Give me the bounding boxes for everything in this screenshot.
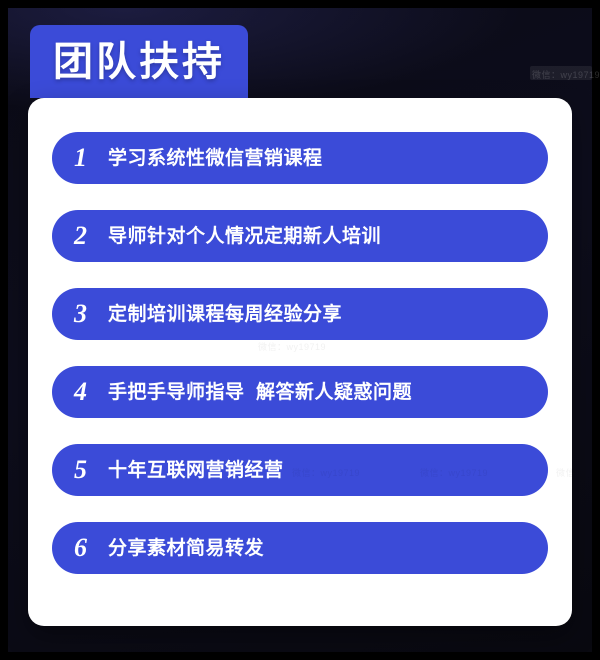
list-item[interactable]: 3 定制培训课程每周经验分享 [52,288,548,340]
list-item-label: 定制培训课程每周经验分享 [108,305,342,324]
list-item[interactable]: 5 十年互联网营销经营 [52,444,548,496]
list-item-number: 2 [74,223,100,249]
list-item-number: 5 [74,457,100,483]
content-card: 1 学习系统性微信营销课程 2 导师针对个人情况定期新人培训 3 定制培训课程每… [28,98,572,626]
list-item-number: 4 [74,379,100,405]
list-item[interactable]: 2 导师针对个人情况定期新人培训 [52,210,548,262]
list-item-number: 6 [74,535,100,561]
watermark-plate [530,66,592,80]
title-tab: 团队扶持 [30,25,248,98]
list-item[interactable]: 1 学习系统性微信营销课程 [52,132,548,184]
list-item-label: 学习系统性微信营销课程 [108,149,323,168]
list-item-label: 导师针对个人情况定期新人培训 [108,227,381,246]
list-item-label: 十年互联网营销经营 [108,461,284,480]
list-item-label: 手把手导师指导 解答新人疑惑问题 [108,383,412,402]
benefit-list: 1 学习系统性微信营销课程 2 导师针对个人情况定期新人培训 3 定制培训课程每… [52,132,548,574]
list-item-label: 分享素材简易转发 [108,539,264,558]
poster-root: 团队扶持 1 学习系统性微信营销课程 2 导师针对个人情况定期新人培训 3 定制… [0,0,600,660]
list-item[interactable]: 4 手把手导师指导 解答新人疑惑问题 [52,366,548,418]
list-item-number: 3 [74,301,100,327]
list-item-number: 1 [74,145,100,171]
page-title: 团队扶持 [53,42,225,82]
list-item[interactable]: 6 分享素材简易转发 [52,522,548,574]
